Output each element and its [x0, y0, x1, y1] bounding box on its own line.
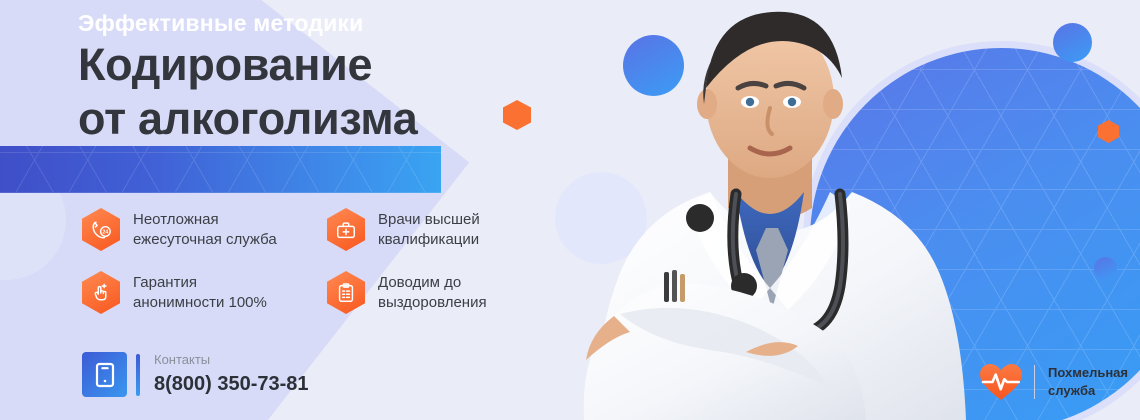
anonymity-hand-icon	[82, 271, 120, 314]
contacts-block[interactable]: Контакты 8(800) 350-73-81	[82, 352, 309, 397]
brand-logo[interactable]: Похмельная служба	[979, 362, 1128, 402]
contacts-phone-number[interactable]: 8(800) 350-73-81	[154, 371, 309, 397]
subtitle-banner-label: Эффективные методики	[78, 0, 363, 47]
feature-line-2: квалификации	[378, 231, 479, 248]
heart-pulse-icon	[979, 362, 1023, 402]
feature-item-recovery: Доводим до выздоровления	[327, 271, 547, 314]
feature-line-1: Гарантия	[133, 274, 197, 291]
svg-text:24: 24	[103, 229, 109, 235]
feature-line-1: Врачи высшей	[378, 211, 480, 228]
feature-label: Гарантия анонимности 100%	[133, 273, 267, 313]
feature-line-1: Доводим до	[378, 274, 461, 291]
subtitle-banner	[0, 146, 441, 193]
promo-banner: Кодирование от алкоголизма Эффективные м…	[0, 0, 1140, 420]
page-title: Кодирование от алкоголизма	[78, 38, 638, 145]
contacts-divider	[136, 354, 140, 396]
feature-item-anonymity: Гарантия анонимности 100%	[82, 271, 327, 314]
brand-name: Похмельная служба	[1048, 364, 1128, 399]
brand-name-line-1: Похмельная	[1048, 365, 1128, 380]
feature-line-2: ежесуточная служба	[133, 231, 277, 248]
feature-line-2: анонимности 100%	[133, 294, 267, 311]
mobile-phone-icon	[82, 352, 127, 397]
blue-circle-decor-3	[1094, 257, 1117, 280]
phone-24h-icon: 24	[82, 208, 120, 251]
feature-row: 24 Неотложная ежесуточная служба	[82, 208, 552, 251]
feature-line-2: выздоровления	[378, 294, 487, 311]
feature-label: Доводим до выздоровления	[378, 273, 487, 313]
contacts-caption: Контакты	[154, 352, 309, 369]
feature-label: Неотложная ежесуточная служба	[133, 210, 277, 250]
feature-row: Гарантия анонимности 100% Доводим до выз…	[82, 271, 552, 314]
banner-hexagon-pattern	[0, 146, 441, 193]
medical-bag-icon	[327, 208, 365, 251]
feature-item-qualified-doctors: Врачи высшей квалификации	[327, 208, 547, 251]
clipboard-icon	[327, 271, 365, 314]
feature-label: Врачи высшей квалификации	[378, 210, 480, 250]
feature-line-1: Неотложная	[133, 211, 219, 228]
contacts-text: Контакты 8(800) 350-73-81	[154, 352, 309, 397]
brand-name-line-2: служба	[1048, 383, 1095, 398]
feature-item-emergency: 24 Неотложная ежесуточная служба	[82, 208, 327, 251]
headline-line-2: от алкоголизма	[78, 92, 638, 146]
brand-divider	[1034, 365, 1035, 399]
blue-circle-decor-2	[1053, 23, 1092, 62]
feature-list: 24 Неотложная ежесуточная служба	[82, 208, 552, 314]
